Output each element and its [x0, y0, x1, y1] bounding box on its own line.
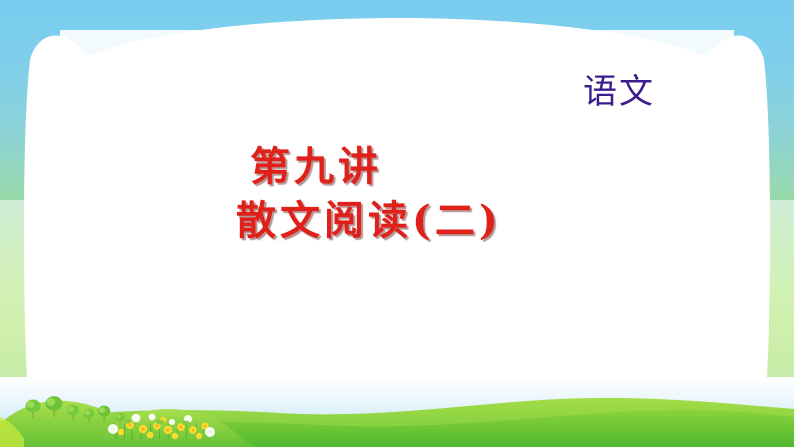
subject-label: 语文 — [583, 70, 655, 114]
bottom-scenery-decoration — [0, 377, 794, 447]
lesson-title-line-1: 第九讲 — [236, 140, 502, 194]
title-slide: 语文 第九讲 散文阅读(二) — [0, 0, 794, 447]
lesson-title-line-2: 散文阅读(二) — [236, 194, 502, 248]
lesson-title: 第九讲 散文阅读(二) — [236, 140, 502, 248]
